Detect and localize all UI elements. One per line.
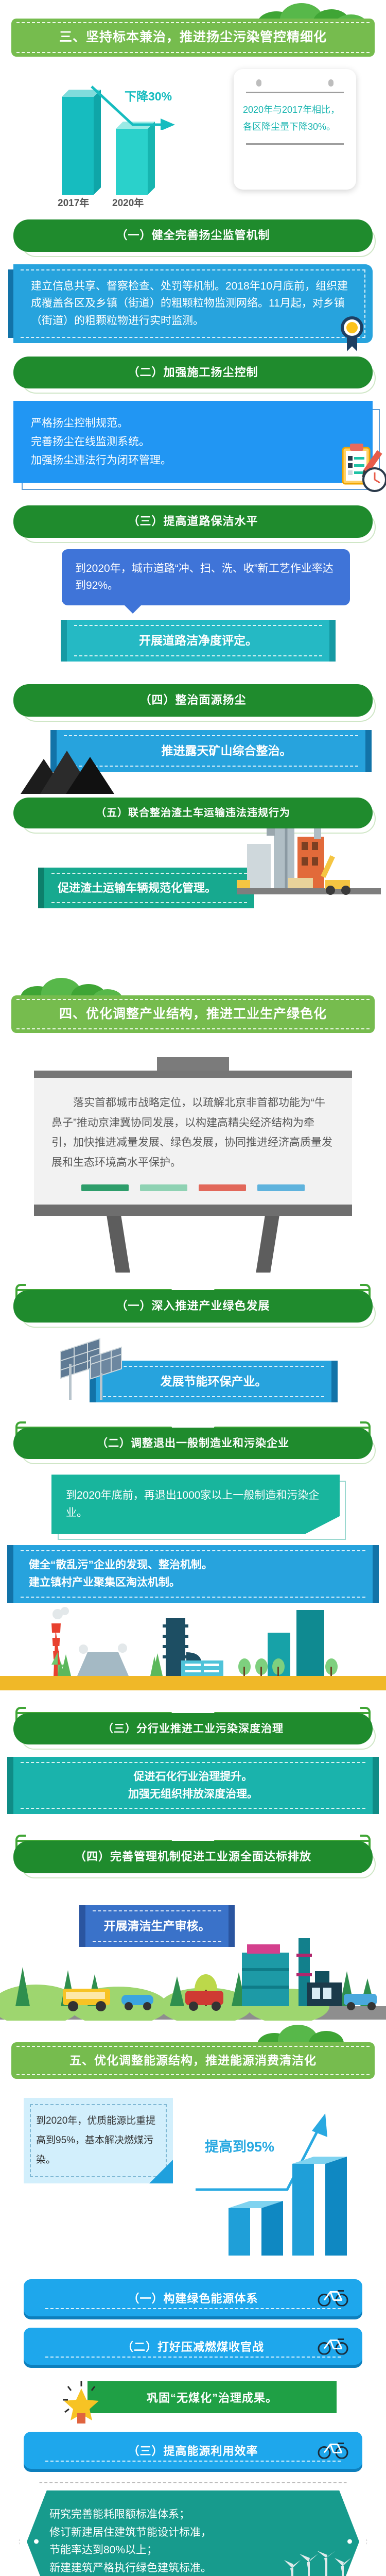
dust-reduction-chart: 2017年 2020年 下降30%: [46, 72, 216, 211]
section3-sub4-title: （四）整治面源扬尘: [139, 693, 246, 706]
section5-sub1-title: （一）构建绿色能源体系: [128, 2290, 258, 2306]
section4-banner-area: 四、优化调整产业结构，推进工业生产绿色化: [0, 973, 386, 1040]
section3-note-card: 2020年与2017年相比，各区降尘量下降30%。: [234, 69, 356, 190]
section4-sub4-heading: »« （四）完善管理机制促进工业源全面达标排放: [13, 1841, 373, 1873]
section4-sub2-ribbon-text: 到2020年底前，再退出1000家以上一般制造和污染企业。: [66, 1489, 319, 1519]
section3-sub3-title: （三）提高道路保洁水平: [128, 515, 258, 528]
section4-sub2-title: （二）调整退出一般制造业和污染企业: [97, 1437, 289, 1449]
section3-sub5-body: 促进渣土运输车辆规范化管理。: [0, 854, 386, 962]
section3-sub5-ribbon-text: 促进渣土运输车辆规范化管理。: [58, 879, 241, 897]
section5-sub3-line1: 研究完善能耗限额标准体系；: [49, 2506, 337, 2524]
section5-note-text: 到2020年，优质能源比重提高到95%，基本解决燃煤污染。: [36, 2111, 161, 2170]
section4-easel-text: 落实首都城市战略定位，以疏解北京非首都功能为“牛鼻子”推动京津冀协同发展，以构建…: [51, 1093, 335, 1173]
section3-note-text: 2020年与2017年相比，各区降尘量下降30%。: [243, 101, 347, 136]
section5-sub1-heading: （一）构建绿色能源体系: [24, 2279, 362, 2316]
section4-easel: 落实首都城市战略定位，以疏解北京非首都功能为“牛鼻子”推动京津冀协同发展，以构建…: [0, 1057, 386, 1273]
section3-sub1-body: 建立信息共享、督察检查、处罚等机制。2018年10月底前，组织建成覆盖各区及乡镇…: [31, 278, 355, 330]
section3-sub1-body-box: 建立信息共享、督察检查、处罚等机制。2018年10月底前，组织建成覆盖各区及乡镇…: [13, 264, 373, 343]
section3-chart-area: 2017年 2020年 下降30% 2020年与2017年相比，各区降尘量下降3…: [0, 62, 386, 206]
card-dot-left-icon: [256, 79, 261, 87]
section5-sub3-body: 研究完善能耗限额标准体系； 修订新建居住建筑节能设计标准， 节能率达到80%以上…: [19, 2482, 367, 2576]
section5-sub2-star-text: 巩固“无煤化”治理成果。: [87, 2381, 337, 2413]
section3-banner: 三、坚持标本兼治，推进扬尘污染管控精细化: [11, 19, 375, 57]
section4-banner: 四、优化调整产业结构，推进工业生产绿色化: [11, 995, 375, 1033]
section4-sub2-heading: »« （二）调整退出一般制造业和污染企业: [13, 1428, 373, 1459]
section4-sub1-body: 发展节能环保产业。: [0, 1335, 386, 1412]
section3-sub1-title: （一）健全完善扬尘监管机制: [116, 229, 270, 242]
bicycle-icon-3: [317, 2439, 349, 2462]
section3-sub3-ribbon: 开展道路洁净度评定。: [67, 620, 329, 662]
bar-2020: [116, 129, 157, 195]
section3-sub3-bubble: 到2020年，城市道路“冲、扫、洗、收”新工艺作业率达到92%。: [62, 549, 350, 605]
star-icon: [60, 2379, 104, 2426]
section3-sub2-heading: （二）加强施工扬尘控制: [13, 357, 373, 389]
coal-mountain-icon: [15, 727, 134, 799]
section3-sub2-line1: 严格扬尘控制规范。: [31, 414, 355, 433]
card-divider-bottom: [246, 143, 344, 145]
section5-banner-title: 五、优化调整能源结构，推进能源消费清洁化: [19, 2053, 367, 2069]
section4-sub3-line2: 加强无组织排放深度治理。: [29, 1786, 357, 1803]
section4-sub2-ribbon2: 健全“散乱污”企业的发现、整治机制。 建立镇村产业聚集区淘汰机制。: [13, 1545, 373, 1602]
section5-banner-area: 五、优化调整能源结构，推进能源消费清洁化: [0, 2024, 386, 2086]
chart-xlabel-2017: 2017年: [58, 195, 89, 209]
section5-sub3-heading: （三）提高能源利用效率: [24, 2432, 362, 2469]
bicycle-icon: [317, 2287, 349, 2309]
factory-skyline-icon: [0, 1603, 386, 1696]
section3-sub5-title: （五）联合整治渣土车运输违法违规行为: [96, 807, 290, 819]
chart-xlabel-2020: 2020年: [112, 195, 144, 209]
section3-banner-area: 三、坚持标本兼治，推进扬尘污染管控精细化: [0, 0, 386, 62]
green-town-icon: [0, 1933, 386, 2021]
section3-sub5-heading: （五）联合整治渣土车运输违法违规行为: [13, 798, 373, 828]
section4-sub2-line1: 健全“散乱污”企业的发现、整治机制。: [29, 1556, 357, 1574]
section4-sub3-title: （三）分行业推进工业污染深度治理: [102, 1723, 284, 1735]
section5-sub3-title: （三）提高能源利用效率: [128, 2442, 258, 2459]
section3-sub4-ribbon-text: 推进露天矿山综合整治。: [103, 741, 350, 760]
section3-sub3-bubble-text: 到2020年，城市道路“冲、扫、洗、收”新工艺作业率达到92%。: [75, 563, 334, 591]
section4-sub1-heading: »« （一）深入推进产业绿色发展: [13, 1290, 373, 1323]
section5-sub2-title: （二）打好压减燃煤收官战: [122, 2338, 264, 2354]
section3-sub3-heading: （三）提高道路保洁水平: [13, 505, 373, 538]
section3-sub2-title: （二）加强施工扬尘控制: [128, 366, 258, 379]
chip-green: [81, 1184, 129, 1191]
section5-banner: 五、优化调整能源结构，推进能源消费清洁化: [11, 2042, 375, 2079]
section4-sub2-ribbon-box: 到2020年底前，再退出1000家以上一般制造和污染企业。: [51, 1475, 340, 1534]
section3-banner-title: 三、坚持标本兼治，推进扬尘污染管控精细化: [19, 29, 367, 46]
chip-red: [199, 1184, 246, 1191]
easel-top-bar: [157, 1057, 229, 1071]
bicycle-icon-2: [317, 2335, 349, 2358]
section4-banner-title: 四、优化调整产业结构，推进工业生产绿色化: [19, 1006, 367, 1023]
section3-sub2-body-box: 严格扬尘控制规范。 完善扬尘在线监测系统。 加强扬尘违法行为闭环管理。: [13, 401, 373, 483]
clipboard-clock-icon: [334, 439, 386, 496]
clean-energy-chart: 提高到95%: [196, 2107, 376, 2262]
section4-sub1-title: （一）深入推进产业绿色发展: [116, 1299, 270, 1312]
section3-sub2-line2: 完善扬尘在线监测系统。: [31, 433, 355, 451]
easel-color-chips: [51, 1184, 335, 1191]
easel-tray: [34, 1205, 352, 1216]
section3-sub1-heading: （一）健全完善扬尘监管机制: [13, 219, 373, 252]
section4-sub3-line1: 促进石化行业治理提升。: [29, 1768, 357, 1786]
green-town-scene: [0, 1933, 386, 2021]
wind-turbine-icon: [277, 2551, 354, 2576]
chip-light-green: [140, 1184, 187, 1191]
infographic-page: 三、坚持标本兼治，推进扬尘污染管控精细化 2017年 2020年: [0, 0, 386, 2576]
section4-sub3-ribbon: 促进石化行业治理提升。 加强无组织排放深度治理。: [13, 1757, 373, 1814]
section3-sub4-body: 推进露天矿山综合整治。: [0, 730, 386, 772]
section3-sub4-heading: （四）整治面源扬尘: [13, 684, 373, 717]
card-dot-right-icon: [328, 79, 334, 87]
chip-blue: [257, 1184, 305, 1191]
chart-annotation: 下降30%: [125, 87, 172, 104]
easel-legs: [34, 1216, 352, 1273]
section5-sub3-line2: 修订新建居住建筑节能设计标准，: [49, 2524, 337, 2542]
section4-sub1-ribbon-text: 发展节能环保产业。: [111, 1372, 316, 1391]
section3-sub2-line3: 加强扬尘违法行为闭环管理。: [31, 451, 355, 470]
section4-sub4-ribbon-text: 开展清洁生产审核。: [101, 1917, 213, 1936]
section5-sub2-heading: （二）打好压减燃煤收官战: [24, 2328, 362, 2365]
section5-sub2-star-banner: 巩固“无煤化”治理成果。 »»: [57, 2378, 355, 2416]
factory-skyline-scene: [0, 1603, 386, 1696]
solar-panel-icon: [51, 1330, 134, 1402]
easel-board: 落实首都城市战略定位，以疏解北京非首都功能为“牛鼻子”推动京津冀协同发展，以构建…: [34, 1071, 352, 1205]
section4-sub4-title: （四）完善管理机制促进工业源全面达标排放: [75, 1850, 311, 1863]
section5-chart-area: 到2020年，优质能源比重提高到95%，基本解决燃煤污染。 提高到95%: [0, 2098, 386, 2268]
svg-text:提高到95%: 提高到95%: [205, 2139, 274, 2155]
section4-sub3-heading: »« （三）分行业推进工业污染深度治理: [13, 1713, 373, 1744]
section4-sub2-line2: 建立镇村产业聚集区淘汰机制。: [29, 1574, 357, 1591]
card-divider-top: [246, 92, 344, 93]
section5-note-card: 到2020年，优质能源比重提高到95%，基本解决燃煤污染。: [24, 2098, 173, 2183]
section3-sub5-ribbon: 促进渣土运输车辆规范化管理。: [44, 868, 254, 908]
section3-sub3-ribbon-text: 开展道路洁净度评定。: [82, 631, 314, 650]
